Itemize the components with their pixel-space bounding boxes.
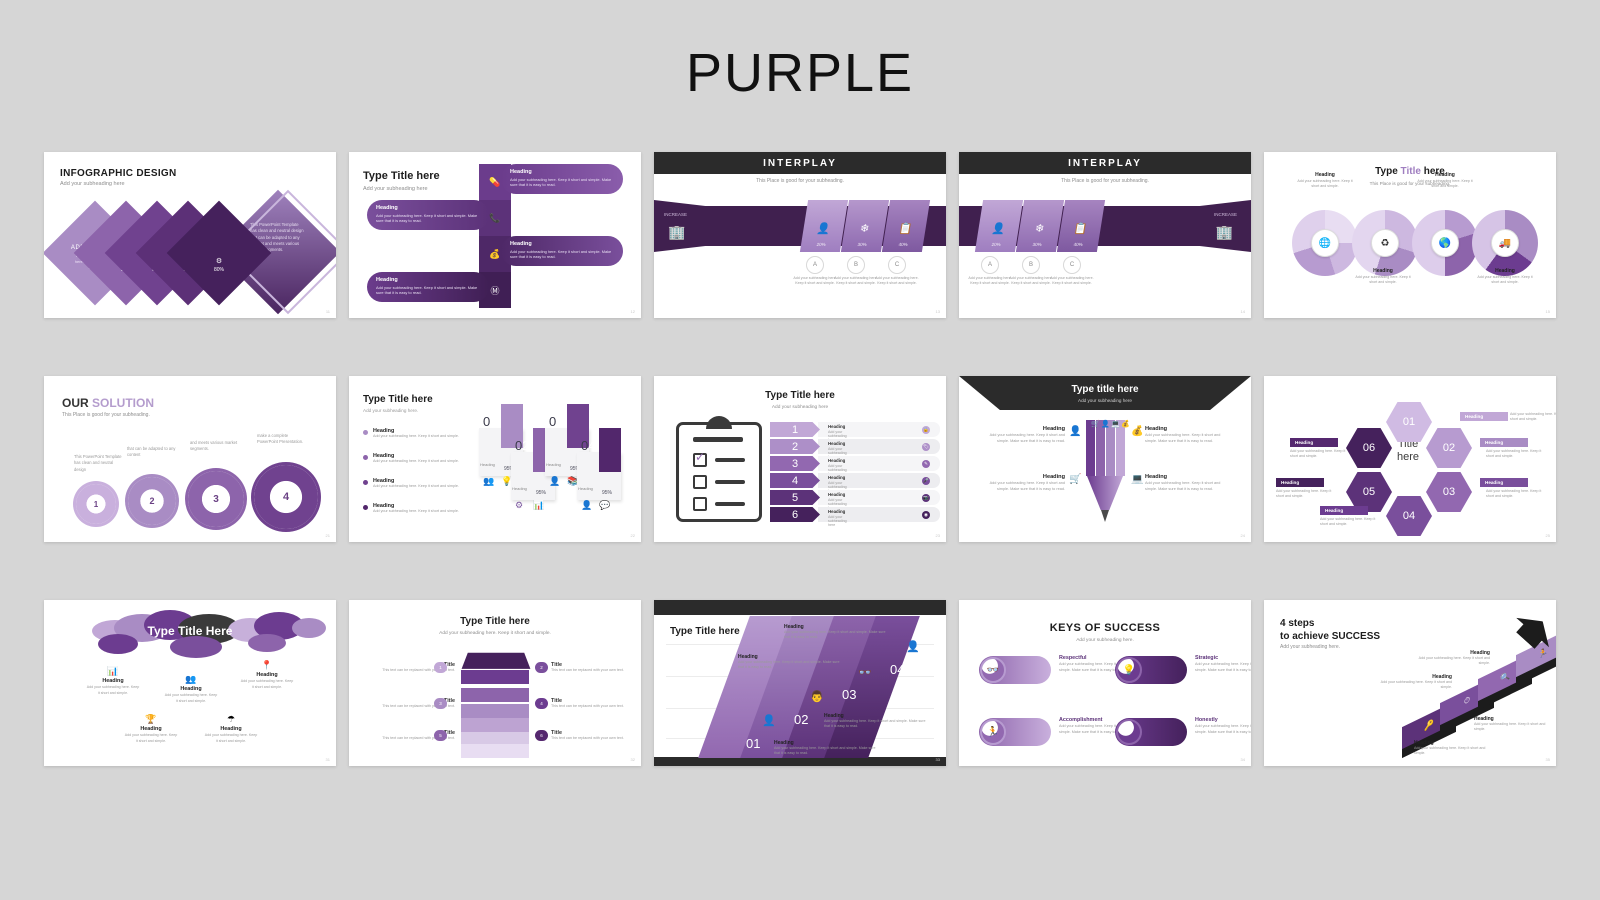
slide10-tag-01: Heading [1460, 412, 1508, 421]
presenter-icon: 👤 [816, 222, 832, 235]
slide9-page-number: 24 [1241, 533, 1245, 538]
slide13-block-3: Heading Add your subheading here. Keep i… [738, 654, 842, 671]
world-hand-icon[interactable]: 🌎 [1431, 229, 1459, 257]
slide9-block-1: Heading Add your subheading here. Keep i… [979, 426, 1065, 445]
slide4-pct-2: 30% [1032, 242, 1042, 247]
binocular-icon: 👓 [858, 666, 872, 679]
slide4-marker-c-body: Add your subheading here. Keep it short … [1049, 276, 1095, 287]
slide-diagonal-bands[interactable]: Type Title here 01 👤 02 👨 03 👓 04 👤 Head… [654, 600, 946, 766]
clipboard-checklist-icon: ✓ [676, 422, 762, 522]
slide6-gear-2[interactable]: 2 [128, 477, 176, 525]
slide2-title: Type Title here [363, 170, 440, 182]
slide7-title: Type Title here [363, 394, 433, 405]
slide6-gear-4[interactable]: 4 [254, 465, 318, 529]
slide5-label-4: Heading Add your subheading here. Keep i… [1476, 268, 1534, 286]
document-clock-icon: 📋 [898, 222, 914, 235]
chart-icon: 📊 [533, 500, 544, 511]
slide2-pill-3-heading: Heading [510, 241, 614, 247]
slide11-item-1: 📊 Heading Add your subheading here. Keep… [86, 666, 140, 696]
slide3-page-number: 13 [936, 309, 940, 314]
truck-icon[interactable]: 🚚 [1491, 229, 1519, 257]
slide1-title: INFOGRAPHIC DESIGN [60, 168, 177, 179]
slide12-bubble-4: 4 [535, 698, 548, 709]
slide6-title-light: SOLUTION [92, 396, 154, 410]
snowflake-icon: ❄ [859, 222, 870, 235]
slide3-marker-a[interactable]: A [806, 256, 824, 274]
pencil-icon [1085, 420, 1125, 520]
slide3-marker-b[interactable]: B [847, 256, 865, 274]
slide2-pill-2-body: Add your subheading here. Keep it short … [376, 213, 480, 224]
slide2-pill-1[interactable]: Heading Add your subheading here. Keep i… [501, 164, 623, 194]
slide6-page-number: 21 [326, 533, 330, 538]
slide2-pill-2-heading: Heading [376, 205, 480, 211]
money-icon: 💰 [1121, 420, 1130, 428]
slide12-entry-4: Title This text can be replaced with you… [551, 698, 639, 710]
user-icon: 👤 [581, 500, 592, 511]
slide3-pct-3: 40% [898, 242, 908, 247]
slide10-txt-01: Add your subheading here. Keep it short … [1510, 412, 1556, 423]
slide13-block-1: Heading Add your subheading here. Keep i… [774, 740, 878, 757]
presenter-icon: 👨 [810, 690, 824, 703]
slide11-title: Type Title Here [44, 624, 336, 638]
slide1-diamond-4[interactable]: ⚙ 80% [167, 201, 272, 306]
slide6-gear-text-2: that can be adapted to any content [127, 446, 179, 459]
slide11-item-2: 👥 Heading Add your subheading here. Keep… [164, 674, 218, 704]
slide13-num-3: 03 [842, 687, 856, 702]
slide10-txt-02: Add your subheading here. Keep it short … [1486, 449, 1548, 460]
slide4-marker-b[interactable]: B [1022, 256, 1040, 274]
slide10-tag-04: Heading [1320, 506, 1368, 515]
slide2-pill-4-heading: Heading [376, 277, 480, 283]
network-icon: ⚙ [515, 500, 523, 511]
slide3-pct-2: 30% [857, 242, 867, 247]
people-icon: 👥 [164, 674, 218, 685]
recycle-icon[interactable]: ♻ [1371, 229, 1399, 257]
slide12-entry-2: Title This text can be replaced with you… [551, 662, 639, 674]
slide15-subtitle: Add your subheading here. [1280, 644, 1340, 650]
slide5-page-number: 15 [1546, 309, 1550, 314]
slide14-key-4: Honestly Add your subheading here. Keep … [1195, 717, 1251, 735]
slide14-key-2: Strategic Add your subheading here. Keep… [1195, 655, 1251, 673]
slide-grid: INFOGRAPHIC DESIGN Add your subheading h… [0, 152, 1600, 766]
slide7-num-4: 04 [581, 438, 595, 453]
slide14-page-number: 34 [1241, 757, 1245, 762]
slide7-label-2: Heading [512, 486, 527, 491]
slide3-marker-b-body: Add your subheading here. Keep it short … [833, 276, 879, 287]
slide3-title-bar: INTERPLAY [654, 152, 946, 174]
slide10-tag-06: Heading [1290, 438, 1338, 447]
slide12-bubble-5: 5 [434, 730, 447, 741]
slide3-marker-a-body: Add your subheading here. Keep it short … [792, 276, 838, 287]
slide7-page-number: 22 [631, 533, 635, 538]
slide7-num-2: 02 [515, 438, 529, 453]
slide15-title-line2: to achieve SUCCESS [1280, 631, 1380, 644]
slide7-bullet-2: Heading Add your subheading here. Keep i… [363, 453, 469, 465]
slide8-title: Type Title here [654, 390, 946, 401]
slide4-title: INTERPLAY [1068, 158, 1142, 169]
slide-interplay-left[interactable]: INTERPLAY This Place is good for your su… [654, 152, 946, 318]
slide2-pill-4[interactable]: Heading Add your subheading here. Keep i… [367, 272, 489, 302]
slide1-pct-4: 80% [214, 267, 224, 273]
slide15-label-2: Heading Add your subheading here. Keep i… [1474, 716, 1552, 733]
slide4-marker-c[interactable]: C [1063, 256, 1081, 274]
slide11-item-3: 📍 Heading Add your subheading here. Keep… [240, 660, 294, 690]
umbrella-icon: ☂ [204, 714, 258, 725]
slide4-increase-label: INCREASE [1214, 212, 1237, 217]
award-person-icon: 👤 [906, 640, 920, 653]
slide11-item-4: 🏆 Heading Add your subheading here. Keep… [124, 714, 178, 744]
document-clock-icon: 📋 [1073, 222, 1089, 235]
slide15-label-3: Heading Add your subheading here. Keep i… [1374, 674, 1452, 691]
slide2-pill-3-body: Add your subheading here. Keep it short … [510, 249, 614, 260]
presentation-icon: 📊 [86, 666, 140, 677]
slide5-label-3: Heading Add your subheading here. Keep i… [1416, 172, 1474, 190]
slide10-txt-05: Add your subheading here. Keep it short … [1276, 489, 1338, 500]
mic-icon: 🎤 [922, 477, 930, 485]
snowflake-icon: ❄ [1034, 222, 1045, 235]
slide6-title-bold: OUR [62, 396, 89, 410]
slide6-gear-3[interactable]: 3 [188, 471, 244, 527]
slide10-hex-03[interactable]: 03 [1426, 472, 1472, 512]
slide-pencil[interactable]: Type title here Add your subheading here… [959, 376, 1251, 542]
slide4-segment-2[interactable]: ❄ 30% [1016, 200, 1064, 252]
slide3-subtitle: This Place is good for your subheading. [654, 178, 946, 184]
slide4-marker-a[interactable]: A [981, 256, 999, 274]
slide10-hex-01[interactable]: 01 [1386, 402, 1432, 442]
slide4-segment-1[interactable]: 👤 20% [975, 200, 1023, 252]
slide2-pill-1-heading: Heading [510, 169, 614, 175]
slide4-marker-a-body: Add your subheading here. Keep it short … [967, 276, 1013, 287]
slide15-page-number: 35 [1546, 757, 1550, 762]
slide4-subtitle: This Place is good for your subheading. [959, 178, 1251, 184]
check-icon: ✓ [695, 450, 705, 464]
slide3-segment-2[interactable]: ❄ 30% [841, 200, 889, 252]
slide-stacked-layers[interactable]: Type Title here Add your subheading here… [349, 600, 641, 766]
slide-keys-of-success[interactable]: KEYS OF SUCCESS Add your subheading here… [959, 600, 1251, 766]
slide6-title: OUR SOLUTION [62, 396, 154, 410]
slide4-page-number: 14 [1241, 309, 1245, 314]
slide7-num-1: 01 [483, 414, 497, 429]
slide12-page-number: 32 [631, 757, 635, 762]
runner-icon: 🏃 [980, 719, 1006, 745]
slide10-tag-03: Heading [1480, 478, 1528, 487]
presenter-icon: 👤 [1101, 420, 1110, 428]
slide6-gear-text-4: make a complete PowerPoint Presentation. [257, 433, 309, 446]
heart-icon: ❤ [1116, 719, 1142, 745]
slide7-label-4: Heading [578, 486, 593, 491]
slide9-block-3: Heading Add your subheading here. Keep i… [979, 474, 1065, 493]
slide2-pill-3[interactable]: Heading Add your subheading here. Keep i… [501, 236, 623, 266]
trophy-icon: 🏆 [124, 714, 178, 725]
building-icon: 🏢 [668, 224, 685, 241]
slide15-title-line1: 4 steps [1280, 618, 1380, 631]
slide13-top-bar [654, 600, 946, 615]
slide4-marker-b-body: Add your subheading here. Keep it short … [1008, 276, 1054, 287]
slide13-title: Type Title here [670, 626, 740, 637]
slide-infographic-design[interactable]: INFOGRAPHIC DESIGN Add your subheading h… [44, 152, 336, 318]
slide-type-title-pills[interactable]: Type Title here Add your subheading here… [349, 152, 641, 318]
slide3-marker-c-body: Add your subheading here. Keep it short … [874, 276, 920, 287]
slide6-subtitle: This Place is good for your subheading. [62, 412, 150, 418]
slide-interplay-right[interactable]: INTERPLAY This Place is good for your su… [959, 152, 1251, 318]
slide12-bubble-6: 6 [535, 730, 548, 741]
slide9-subtitle: Add your subheading here [959, 398, 1251, 403]
slide4-title-bar: INTERPLAY [959, 152, 1251, 174]
person-icon: 👤 [762, 714, 776, 727]
chat-icon: 💬 [599, 500, 610, 511]
slide12-title: Type Title here [349, 616, 641, 627]
slide2-pill-2[interactable]: Heading Add your subheading here. Keep i… [367, 200, 489, 230]
slide5-label-1: Heading Add your subheading here. Keep i… [1296, 172, 1354, 190]
slide13-num-1: 01 [746, 736, 760, 751]
brain-bulb-icon: 💡 [1116, 657, 1142, 683]
slide-numbered-cards[interactable]: Type Title here Add your subheading here… [349, 376, 641, 542]
slide15-title: 4 steps to achieve SUCCESS [1280, 618, 1380, 643]
binocular-icon: 👓 [980, 657, 1006, 683]
slide4-pct-1: 20% [991, 242, 1001, 247]
monitor-icon: 💻 [1111, 420, 1120, 428]
slide8-page-number: 23 [936, 533, 940, 538]
slide13-num-4: 04 [890, 662, 904, 677]
slide3-title: INTERPLAY [763, 158, 837, 169]
pin-icon: 📍 [240, 660, 294, 671]
slide7-pct-2: 95% [536, 490, 546, 496]
slide-hexagons[interactable]: Title here 01 02 03 04 05 06 Heading Add… [1264, 376, 1556, 542]
slide12-bubble-1: 1 [434, 662, 447, 673]
person-icon: 👤 [549, 476, 560, 487]
slide1-diamond-chain: This PowerPoint Template has clean and n… [58, 198, 324, 308]
slide7-num-3: 03 [549, 414, 563, 429]
slide3-increase-label: INCREASE [664, 212, 687, 217]
slide2-pill-1-body: Add your subheading here. Keep it short … [510, 177, 614, 188]
slide10-tag-05: Heading [1276, 478, 1324, 487]
slide10-hex-04[interactable]: 04 [1386, 496, 1432, 536]
slide-wave-process[interactable]: Type Title here This Place is good for y… [1264, 152, 1556, 318]
team-icon: 👥 [483, 476, 494, 487]
camera-icon: 📷 [922, 494, 930, 502]
slide7-bullet-3: Heading Add your subheading here. Keep i… [363, 478, 469, 490]
slide7-label-1: Heading [480, 462, 495, 467]
slide7-pct-4: 95% [602, 490, 612, 496]
slide13-page-number: 33 [936, 757, 940, 762]
building-icon: 🏢 [1216, 224, 1233, 241]
slide7-tab-4 [599, 428, 621, 472]
slide3-segment-3[interactable]: 📋 40% [882, 200, 930, 252]
slide9-block-4: Heading Add your subheading here. Keep i… [1145, 474, 1231, 493]
slide5-title-p1: Type [1375, 166, 1400, 177]
slide4-pct-3: 40% [1073, 242, 1083, 247]
slide3-segment-1[interactable]: 👤 20% [800, 200, 848, 252]
slide2-pill-4-body: Add your subheading here. Keep it short … [376, 285, 480, 296]
slide10-txt-04: Add your subheading here. Keep it short … [1320, 517, 1382, 528]
slide13-block-2: Heading Add your subheading here. Keep i… [824, 713, 928, 730]
presenter-icon: 👤 [1069, 426, 1081, 437]
slide-our-solution[interactable]: OUR SOLUTION This Place is good for your… [44, 376, 336, 542]
slide5-label-2: Heading Add your subheading here. Keep i… [1354, 268, 1412, 286]
slide-checklist[interactable]: Type Title here Add your subheading here… [654, 376, 946, 542]
slide3-ribbon: INCREASE 🏢 👤 20% ❄ 30% 📋 40% [654, 200, 946, 252]
slide1-page-number: 11 [326, 309, 330, 314]
slide14-subtitle: Add your subheading here. [959, 638, 1251, 643]
money-icon: 💰 [1131, 426, 1143, 437]
slide7-subtitle: Add your subheading here. [363, 408, 418, 413]
cart-icon: 🛒 [1091, 420, 1100, 428]
slide6-gear-text-1: This PowerPoint Template has clean and n… [74, 454, 126, 473]
slide13-block-4: Heading Add your subheading here. Keep i… [784, 624, 888, 641]
slide7-label-3: Heading [546, 462, 561, 467]
slide3-pct-1: 20% [816, 242, 826, 247]
gear-icon: ⚙ [216, 257, 222, 265]
monitor-icon: 💻 [1131, 474, 1143, 485]
slide2-subtitle: Add your subheading here [363, 186, 428, 192]
slide2-page-number: 12 [631, 309, 635, 314]
slide-four-steps[interactable]: 4 steps to achieve SUCCESS Add your subh… [1264, 600, 1556, 766]
slide10-tag-02: Heading [1480, 438, 1528, 447]
slide12-bubble-2: 2 [535, 662, 548, 673]
slide-clouds[interactable]: Type Title Here 📊 Heading Add your subhe… [44, 600, 336, 766]
slide6-gear-1[interactable]: 1 [76, 484, 116, 524]
pen-icon: ✎ [922, 460, 930, 468]
slide9-block-2: Heading Add your subheading here. Keep i… [1145, 426, 1231, 445]
lock-icon: 🔒 [922, 426, 930, 434]
slide14-title: KEYS OF SUCCESS [959, 622, 1251, 634]
slide11-page-number: 31 [326, 757, 330, 762]
slide10-txt-03: Add your subheading here. Keep it short … [1486, 489, 1548, 500]
slide8-subtitle: Add your subheading here [654, 405, 946, 410]
tag-icon: 🏷 [922, 443, 930, 451]
slide6-gear-text-3: and meets various market segments. [190, 440, 242, 453]
slide1-subtitle: Add your subheading here [60, 181, 125, 187]
globe-icon[interactable]: 🌐 [1311, 229, 1339, 257]
slide15-label-4: Heading Add your subheading here. Keep i… [1412, 650, 1490, 667]
presenter-icon: 👤 [991, 222, 1007, 235]
slide13-bottom-bar [654, 757, 946, 766]
slide5-wave: 🌐 ♻ 🌎 🚚 Heading Add your subheading here… [1284, 196, 1536, 288]
slide4-segment-3[interactable]: 📋 40% [1057, 200, 1105, 252]
slide15-label-1: Heading Add your subheading here. Keep i… [1414, 740, 1492, 757]
slide10-txt-06: Add your subheading here. Keep it short … [1290, 449, 1352, 460]
page-title: PURPLE [0, 0, 1600, 104]
slide13-num-2: 02 [794, 712, 808, 727]
cart-icon: 🛒 [1069, 474, 1081, 485]
slide7-bullet-4: Heading Add your subheading here. Keep i… [363, 503, 469, 515]
slide9-title: Type title here [959, 384, 1251, 395]
slide10-page-number: 25 [1546, 533, 1550, 538]
slide12-bubble-3: 3 [434, 698, 447, 709]
slide4-ribbon: INCREASE 🏢 👤 20% ❄ 30% 📋 40% [959, 200, 1251, 252]
slide7-bullet-1: Heading Add your subheading here. Keep i… [363, 428, 469, 440]
compass-icon: ◉ [922, 511, 930, 519]
slide11-item-5: ☂ Heading Add your subheading here. Keep… [204, 714, 258, 744]
slide12-entry-6: Title This text can be replaced with you… [551, 730, 639, 742]
slide12-subtitle: Add your subheading here. Keep it short … [349, 631, 641, 636]
slide3-marker-c[interactable]: C [888, 256, 906, 274]
